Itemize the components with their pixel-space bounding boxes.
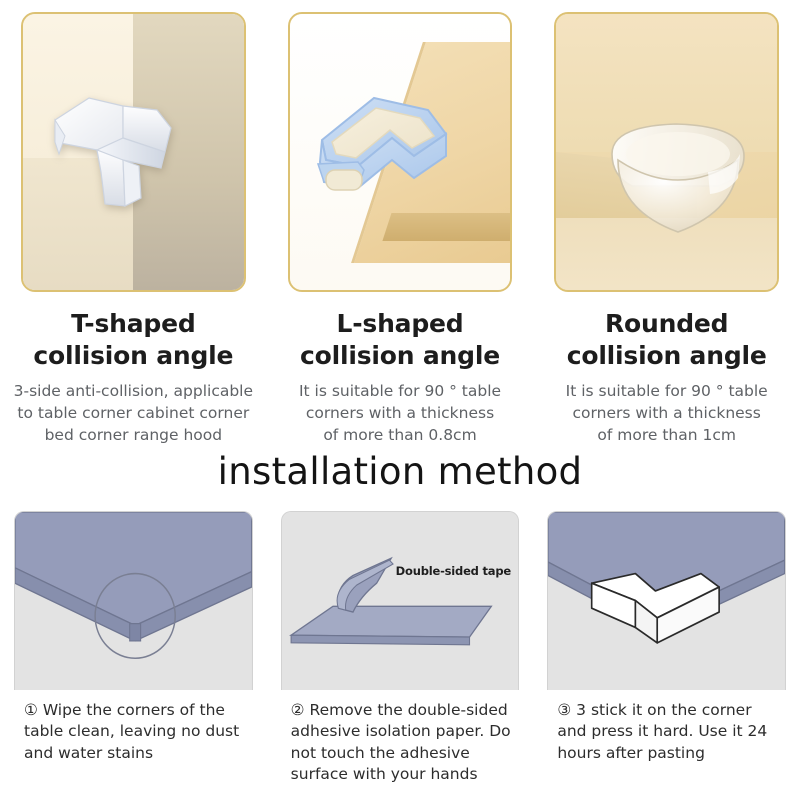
product-title-t-shaped: T-shaped collision angle — [10, 308, 257, 371]
product-photo-row — [0, 0, 800, 300]
rounded-guard-shape — [598, 114, 758, 244]
caption-l-shaped: L-shaped collision angle It is suitable … — [267, 300, 534, 445]
title-line-1: T-shaped — [10, 308, 257, 340]
caption-rounded: Rounded collision angle It is suitable f… — [533, 300, 800, 445]
step-cell-1: ① Wipe the corners of the table clean, l… — [0, 700, 267, 800]
desc-line-1: It is suitable for 90 ° table — [543, 380, 790, 402]
desc-line-2: to table corner cabinet corner — [10, 402, 257, 424]
t-shaped-corner-guard-photo — [21, 12, 246, 292]
step-1-text: ① Wipe the corners of the table clean, l… — [24, 700, 251, 764]
diagram-step-3-image — [547, 511, 786, 690]
product-description-t-shaped: 3-side anti-collision, applicable to tab… — [10, 380, 257, 446]
desc-line-1: 3-side anti-collision, applicable — [10, 380, 257, 402]
product-cell-l-shaped — [267, 0, 534, 300]
desc-line-3: bed corner range hood — [10, 424, 257, 446]
step-2-text: ② Remove the double-sided adhesive isola… — [291, 700, 518, 786]
rounded-corner-guard-photo — [554, 12, 779, 292]
step-cell-3: ③ 3 stick it on the corner and press it … — [533, 700, 800, 800]
diagram-cell-step-3 — [533, 505, 800, 690]
l-shaped-corner-guard-photo — [288, 12, 513, 292]
desc-line-1: It is suitable for 90 ° table — [277, 380, 524, 402]
l-shaped-guard-shape — [296, 74, 481, 239]
title-line-2: collision angle — [10, 340, 257, 372]
desc-line-3: of more than 1cm — [543, 424, 790, 446]
diagram-step-1-image — [14, 511, 253, 690]
product-cell-rounded — [533, 0, 800, 300]
installation-method-heading: installation method — [0, 450, 800, 493]
diagram-cell-step-2: Double-sided tape — [267, 505, 534, 690]
product-description-l-shaped: It is suitable for 90 ° table corners wi… — [277, 380, 524, 446]
double-sided-tape-label: Double-sided tape — [396, 564, 511, 578]
title-line-2: collision angle — [277, 340, 524, 372]
product-cell-t-shaped — [0, 0, 267, 300]
installation-steps-row: ① Wipe the corners of the table clean, l… — [0, 700, 800, 800]
desc-line-2: corners with a thickness — [543, 402, 790, 424]
desc-line-2: corners with a thickness — [277, 402, 524, 424]
diagram-cell-step-1 — [0, 505, 267, 690]
diagram-step-2-image: Double-sided tape — [281, 511, 520, 690]
step-3-text: ③ 3 stick it on the corner and press it … — [557, 700, 784, 764]
desc-line-3: of more than 0.8cm — [277, 424, 524, 446]
caption-t-shaped: T-shaped collision angle 3-side anti-col… — [0, 300, 267, 445]
product-description-rounded: It is suitable for 90 ° table corners wi… — [543, 380, 790, 446]
installation-diagram-row: Double-sided tape — [0, 505, 800, 690]
product-caption-row: T-shaped collision angle 3-side anti-col… — [0, 300, 800, 445]
product-title-rounded: Rounded collision angle — [543, 308, 790, 371]
title-line-1: Rounded — [543, 308, 790, 340]
title-line-2: collision angle — [543, 340, 790, 372]
product-title-l-shaped: L-shaped collision angle — [277, 308, 524, 371]
t-shaped-guard-shape — [45, 76, 185, 216]
step-cell-2: ② Remove the double-sided adhesive isola… — [267, 700, 534, 800]
title-line-1: L-shaped — [277, 308, 524, 340]
